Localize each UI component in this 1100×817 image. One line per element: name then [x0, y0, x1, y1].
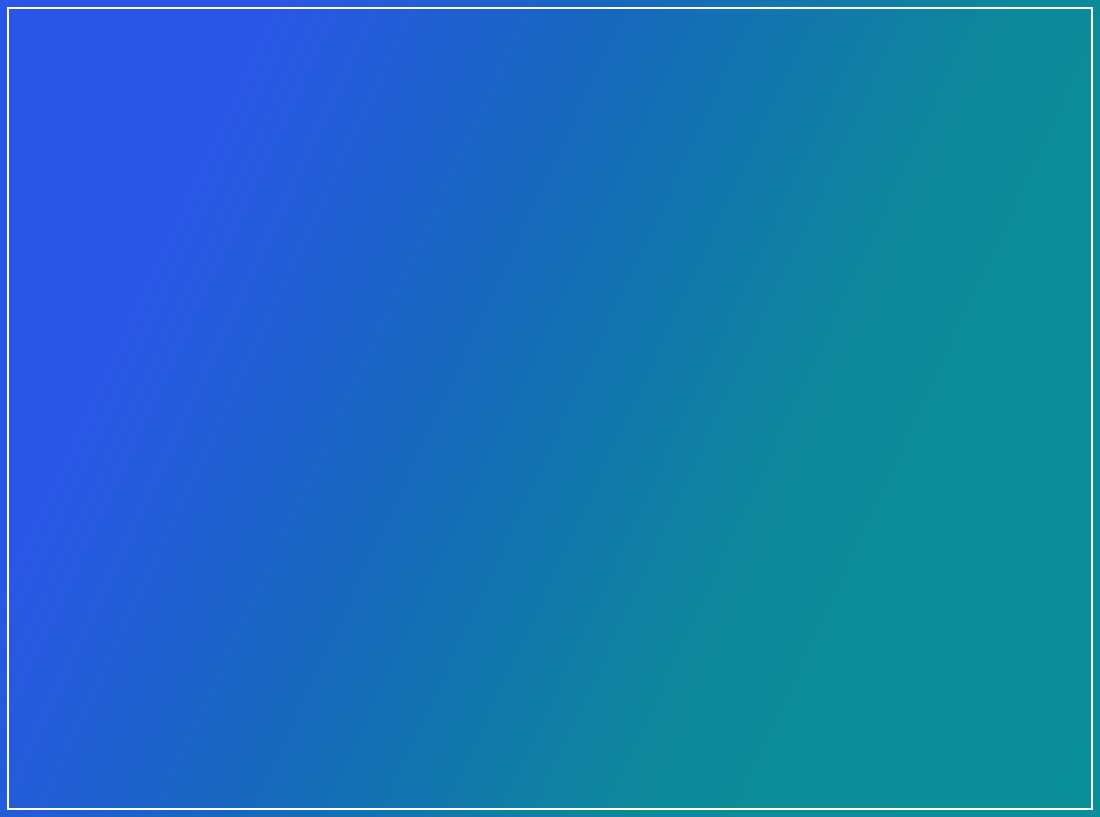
porters-five-forces-diagram: PORTER'S FIVE FORCES ANALYSIS: [0, 316, 880, 817]
poster-page: DCF HMT (Xiamen) New Technical Materials…: [0, 0, 1100, 817]
svg-text:X: X: [919, 636, 950, 688]
connector-substitution-rivalry: [412, 612, 444, 633]
svg-text:W: W: [912, 509, 956, 561]
key-icon: [14, 795, 44, 817]
page-title: HMT (Xiamen) New Technical Materials (60…: [68, 152, 888, 279]
force-card-supplier-power[interactable]: Supplier Power Limited number of recycli…: [3, 763, 314, 817]
force-card-threat-of-substitution[interactable]: Threat of Substitution Alternative optio…: [248, 374, 560, 626]
excel-spreadsheet-icon[interactable]: X: [895, 605, 1005, 715]
logo-wordmark: DCF: [86, 46, 175, 90]
bar-chart-logo-icon: [38, 42, 72, 94]
shopping-cart-icon: [597, 646, 627, 676]
refresh-sync-icon: [259, 407, 289, 437]
word-document-icon[interactable]: W: [895, 478, 1005, 588]
dcf-logo[interactable]: DCF: [38, 42, 175, 94]
force-card-buyer-power[interactable]: Buyer Power High demand for eco-friendly…: [586, 613, 903, 817]
force-card-competitive-rivalry[interactable]: Competitive Rivalry Established competit…: [298, 693, 611, 817]
pie-chart-icon: [309, 725, 339, 755]
